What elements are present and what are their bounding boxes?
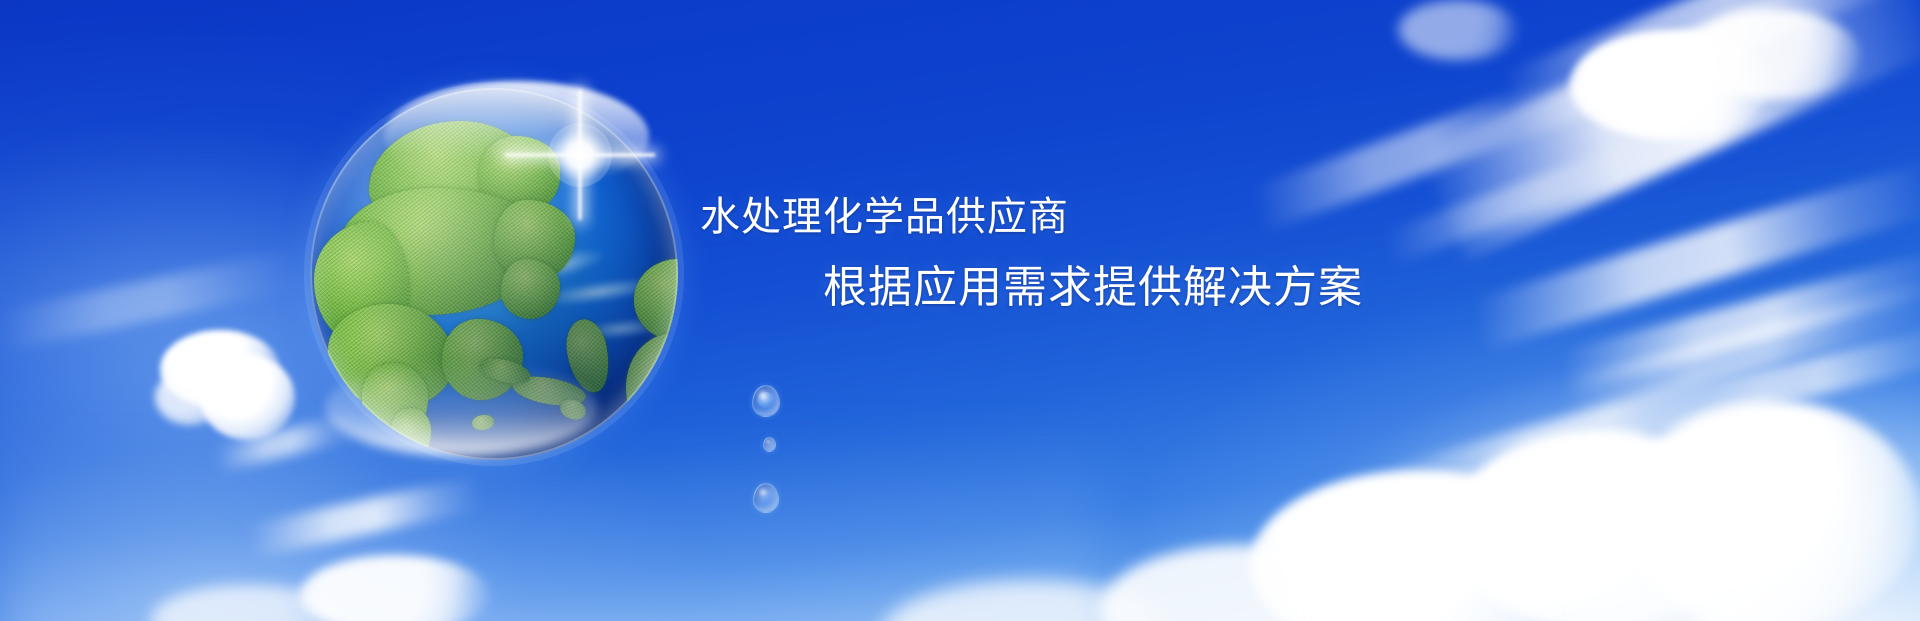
cloud-bottom-left-puff-2 bbox=[150, 585, 350, 621]
cloud-upper-right-puff-2 bbox=[1690, 10, 1860, 100]
cloud-bottom-left-wisp bbox=[249, 476, 481, 557]
cloud-left-wisp bbox=[0, 249, 301, 350]
cloud-bottom-right-cumulus bbox=[1250, 470, 1590, 621]
island-small-1 bbox=[558, 397, 588, 423]
cloud-bottom-right-streak bbox=[1382, 353, 1798, 513]
headline-line-1: 水处理化学品供应商 bbox=[700, 197, 1069, 237]
cloud-right-cirrus bbox=[1473, 162, 1920, 349]
globe-sphere bbox=[310, 88, 678, 460]
water-droplet-small bbox=[763, 437, 776, 452]
cloud-bottom-right-cumulus-5 bbox=[880, 580, 1180, 621]
cloud-left-small bbox=[160, 330, 280, 408]
hero-banner: 水处理化学品供应商 根据应用需求提供解决方案 bbox=[0, 0, 1920, 621]
cloud-left-small-c bbox=[155, 370, 225, 425]
cloud-upper-right-puff bbox=[1570, 30, 1770, 140]
island-small-2 bbox=[471, 414, 495, 432]
cloud-right-cirrus-3 bbox=[1640, 321, 1920, 438]
cloud-upper-right-streak bbox=[1418, 0, 1920, 261]
cloud-upper-right-tail bbox=[1252, 75, 1578, 231]
landmass-mid-spur bbox=[501, 259, 560, 319]
cloud-upper-right-streak-2 bbox=[1503, 0, 1920, 138]
cloud-left-small-b bbox=[200, 355, 295, 440]
cloud-bottom-right-cumulus-2 bbox=[1450, 430, 1750, 621]
water-droplet-large-reflection bbox=[757, 392, 775, 408]
cloud-top-right-small bbox=[1398, 0, 1518, 60]
headline-copy: 水处理化学品供应商 根据应用需求提供解决方案 bbox=[0, 0, 1920, 621]
cloud-bottom-left-puff bbox=[300, 555, 490, 621]
cloud-right-cirrus-4 bbox=[1383, 130, 1677, 265]
landmass-right-edge-lower bbox=[626, 334, 678, 446]
green-earth-globe bbox=[310, 88, 678, 460]
cloud-bottom-right-cumulus-4 bbox=[1100, 545, 1380, 621]
cloud-right-cirrus-2 bbox=[1561, 250, 1920, 392]
landmass-south-tail bbox=[391, 408, 431, 460]
cloud-bottom-right-cumulus-3 bbox=[1620, 400, 1920, 621]
cloud-bottom-right-streak-2 bbox=[1561, 282, 1920, 419]
water-droplet-medium bbox=[753, 483, 779, 513]
headline-line-2: 根据应用需求提供解决方案 bbox=[823, 266, 1363, 310]
